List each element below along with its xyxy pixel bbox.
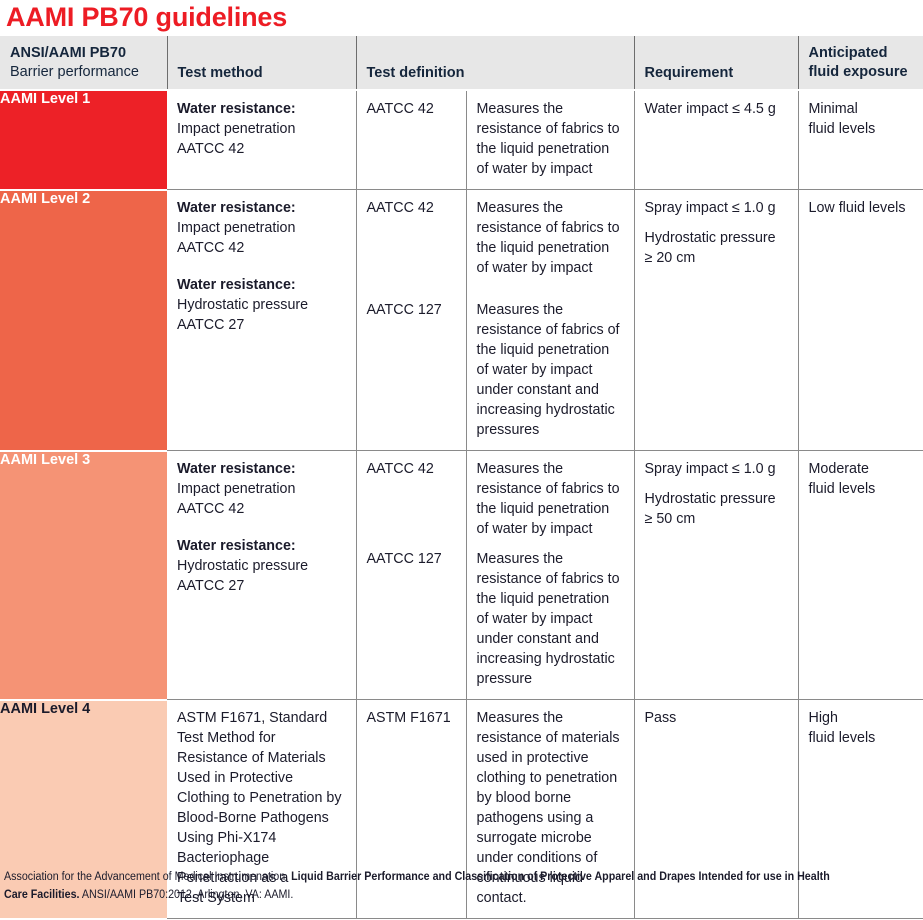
test-definition-text: Measures the resistance of fabrics to th… bbox=[477, 101, 620, 177]
test-method-heading: Water resistance: bbox=[177, 200, 296, 216]
level-cell-3: AAMI Level 3 bbox=[0, 451, 167, 700]
header-test-method: Test method bbox=[167, 36, 356, 90]
requirement-cell-1: Water impact ≤ 4.5 g bbox=[634, 90, 798, 190]
caption-part3: ANSI/AAMI PB70:2012. Arlington, VA: AAMI… bbox=[80, 889, 294, 901]
test-method-heading: Water resistance: bbox=[177, 538, 296, 554]
test-method-detail: Impact penetration AATCC 42 bbox=[177, 121, 295, 157]
test-method-detail: Hydrostatic pressure AATCC 27 bbox=[177, 558, 308, 594]
table-header-row: ANSI/AAMI PB70 Barrier performance Test … bbox=[0, 36, 923, 90]
exposure-text: Moderate fluid levels bbox=[809, 461, 876, 497]
header-barrier-performance: ANSI/AAMI PB70 Barrier performance bbox=[0, 36, 167, 90]
caption-part1: Association for the Advancement of Medic… bbox=[4, 871, 291, 883]
exposure-cell-1: Minimal fluid levels bbox=[798, 90, 923, 190]
exposure-cell-2: Low fluid levels bbox=[798, 190, 923, 451]
table-row: AAMI Level 1 Water resistance: Impact pe… bbox=[0, 90, 923, 190]
test-code: AATCC 127 bbox=[367, 300, 456, 320]
test-code: AATCC 42 bbox=[367, 101, 434, 117]
requirement-line: Hydrostatic pressure ≥ 20 cm bbox=[645, 228, 788, 268]
test-definition-text-cell-1: Measures the resistance of fabrics to th… bbox=[466, 90, 634, 190]
header-anticipated-line2: fluid exposure bbox=[809, 63, 916, 82]
level-label: AAMI Level 2 bbox=[0, 191, 90, 207]
test-method-heading: Water resistance: bbox=[177, 461, 296, 477]
aami-pb70-guidelines-figure: AAMI PB70 guidelines ANSI/AAMI PB70 Barr… bbox=[0, 0, 923, 907]
header-anticipated-line1: Anticipated bbox=[809, 44, 916, 63]
test-definition-code-cell-3: AATCC 42 AATCC 127 bbox=[356, 451, 466, 700]
test-method-detail: Impact penetration AATCC 42 bbox=[177, 220, 295, 256]
level-label: AAMI Level 4 bbox=[0, 701, 90, 717]
test-method-cell-3: Water resistance: Impact penetration AAT… bbox=[167, 451, 356, 700]
header-barrier-performance-line2: Barrier performance bbox=[10, 63, 159, 82]
header-test-definition: Test definition bbox=[356, 36, 634, 90]
requirement-line: Pass bbox=[645, 708, 788, 728]
exposure-text: High fluid levels bbox=[809, 710, 876, 746]
test-definition-text-cell-2: Measures the resistance of fabrics to th… bbox=[466, 190, 634, 451]
header-anticipated-fluid-exposure: Anticipated fluid exposure bbox=[798, 36, 923, 90]
requirement-line: Water impact ≤ 4.5 g bbox=[645, 99, 788, 119]
requirement-line: Hydrostatic pressure ≥ 50 cm bbox=[645, 489, 788, 529]
exposure-text: Minimal fluid levels bbox=[809, 101, 876, 137]
requirement-line: Spray impact ≤ 1.0 g bbox=[645, 198, 788, 218]
table-row: AAMI Level 3 Water resistance: Impact pe… bbox=[0, 451, 923, 700]
test-definition-code-cell-1: AATCC 42 bbox=[356, 90, 466, 190]
requirement-cell-2: Spray impact ≤ 1.0 g Hydrostatic pressur… bbox=[634, 190, 798, 451]
test-method-cell-1: Water resistance: Impact penetration AAT… bbox=[167, 90, 356, 190]
requirement-cell-3: Spray impact ≤ 1.0 g Hydrostatic pressur… bbox=[634, 451, 798, 700]
test-method-detail: Impact penetration AATCC 42 bbox=[177, 481, 295, 517]
test-definition-text: Measures the resistance of fabrics to th… bbox=[477, 549, 624, 689]
test-definition-code-cell-2: AATCC 42 AATCC 127 bbox=[356, 190, 466, 451]
test-definition-text: Measures the resistance of fabrics to th… bbox=[477, 198, 624, 300]
page-title: AAMI PB70 guidelines bbox=[6, 2, 287, 33]
header-requirement: Requirement bbox=[634, 36, 798, 90]
requirement-line: Spray impact ≤ 1.0 g bbox=[645, 459, 788, 479]
source-caption: Association for the Advancement of Medic… bbox=[4, 869, 856, 905]
test-definition-text-cell-3: Measures the resistance of fabrics to th… bbox=[466, 451, 634, 700]
test-code: ASTM F1671 bbox=[367, 710, 451, 726]
level-cell-1: AAMI Level 1 bbox=[0, 90, 167, 190]
level-label: AAMI Level 3 bbox=[0, 452, 90, 468]
test-method-detail: Hydrostatic pressure AATCC 27 bbox=[177, 297, 308, 333]
test-method-heading: Water resistance: bbox=[177, 101, 296, 117]
test-code: AATCC 42 bbox=[367, 198, 456, 300]
exposure-text: Low fluid levels bbox=[809, 200, 906, 216]
level-label: AAMI Level 1 bbox=[0, 91, 90, 107]
test-definition-text: Measures the resistance of fabrics to th… bbox=[477, 459, 624, 549]
test-definition-text: Measures the resistance of fabrics of th… bbox=[477, 300, 624, 440]
test-method-cell-2: Water resistance: Impact penetration AAT… bbox=[167, 190, 356, 451]
aami-guidelines-table: ANSI/AAMI PB70 Barrier performance Test … bbox=[0, 36, 923, 920]
header-barrier-performance-line1: ANSI/AAMI PB70 bbox=[10, 44, 159, 63]
test-code: AATCC 127 bbox=[367, 549, 456, 569]
test-code: AATCC 42 bbox=[367, 459, 456, 549]
level-cell-2: AAMI Level 2 bbox=[0, 190, 167, 451]
test-method-heading: Water resistance: bbox=[177, 277, 296, 293]
exposure-cell-3: Moderate fluid levels bbox=[798, 451, 923, 700]
table-row: AAMI Level 2 Water resistance: Impact pe… bbox=[0, 190, 923, 451]
